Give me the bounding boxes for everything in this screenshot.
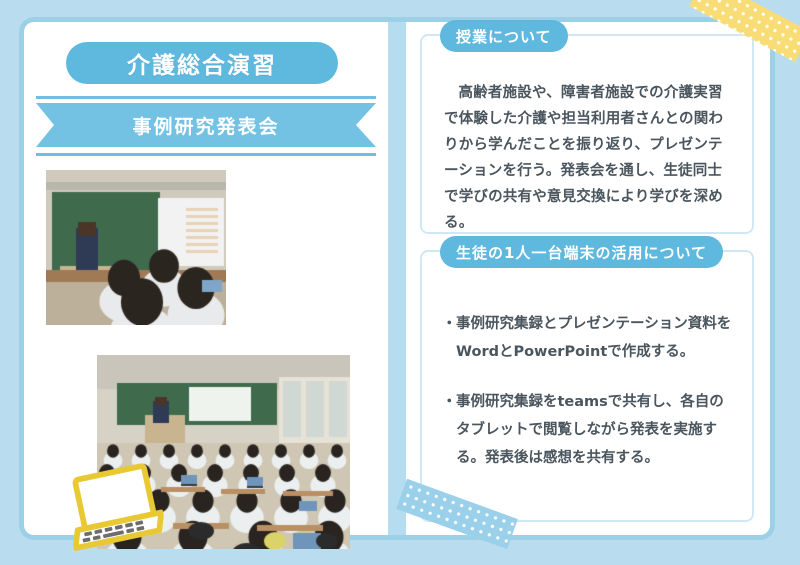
ribbon-body: 事例研究発表会 [36,103,376,147]
right-column: 授業について 高齢者施設や、障害者施設での介護実習で体験した介護や担当利用者さん… [406,22,770,535]
column-divider [388,22,406,535]
list-item: ・ 事例研究集録をteamsで共有し、各自のタブレットで閲覧しながら発表を実施す… [442,388,738,472]
panel-heading-device-use: 生徒の1人一台端末の活用について [440,236,723,268]
about-class-paragraph: 高齢者施設や、障害者施設での介護実習で体験した介護や担当利用者さんとの関わりから… [444,80,734,236]
list-item: ・ 事例研究集録とプレゼンテーション資料をWordとPowerPointで作成す… [442,310,738,366]
list-item-label: 事例研究集録をteamsで共有し、各自のタブレットで閲覧しながら発表を実施する。… [456,394,724,466]
panel-about-class: 授業について 高齢者施設や、障害者施設での介護実習で体験した介護や担当利用者さん… [420,34,754,234]
list-item-label: 事例研究集録とプレゼンテーション資料をWordとPowerPointで作成する。 [456,316,731,360]
classroom-presentation-photo [46,170,226,325]
ribbon-line-top [36,96,376,99]
page-title-label: 介護総合演習 [127,46,277,80]
panel-body-device-use: ・ 事例研究集録とプレゼンテーション資料をWordとPowerPointで作成す… [442,310,738,472]
page-title: 介護総合演習 [66,42,338,84]
ribbon-label: 事例研究発表会 [132,112,279,139]
panel-heading-about-class: 授業について [440,20,568,52]
device-use-bullet-list: ・ 事例研究集録とプレゼンテーション資料をWordとPowerPointで作成す… [442,310,738,472]
panel-device-use: 生徒の1人一台端末の活用について ・ 事例研究集録とプレゼンテーション資料をWo… [420,250,754,522]
bullet-marker: ・ [442,310,457,338]
bullet-marker: ・ [442,388,457,416]
slide-root: 介護総合演習 事例研究発表会 [0,0,800,565]
panel-heading-label: 生徒の1人一台端末の活用について [456,242,707,263]
panel-heading-label: 授業について [456,26,552,47]
left-column: 介護総合演習 事例研究発表会 [24,22,388,535]
subtitle-ribbon: 事例研究発表会 [36,94,376,158]
panel-body-about-class: 高齢者施設や、障害者施設での介護実習で体験した介護や担当利用者さんとの関わりから… [444,80,734,236]
ribbon-line-bottom [36,153,376,156]
